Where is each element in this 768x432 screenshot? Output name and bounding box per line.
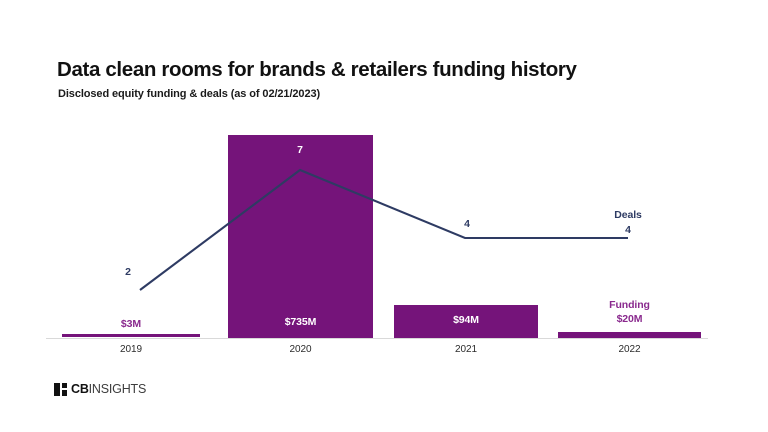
x-tick-2022: 2022: [558, 344, 701, 355]
x-tick-2020: 2020: [228, 344, 373, 355]
line-value-label-2020: 7: [288, 144, 312, 156]
line-value-label-2021: 4: [455, 218, 479, 230]
line-value-label-2022: 4: [616, 224, 640, 236]
legend-label-deals: Deals: [566, 209, 690, 221]
deals-line-path: [140, 170, 628, 290]
chart-plot-area: $3M $735M $94M $20M Funding 2 7 4 4 Deal…: [0, 0, 768, 432]
logo-wordmark: CBINSIGHTS: [71, 382, 146, 396]
logo-wordmark-cb: CB: [71, 382, 89, 396]
chart-slide: Data clean rooms for brands & retailers …: [0, 0, 768, 432]
x-tick-2019: 2019: [62, 344, 200, 355]
logo-wordmark-insights: INSIGHTS: [89, 382, 146, 396]
x-tick-2021: 2021: [394, 344, 538, 355]
cb-insights-square-icon: [54, 383, 67, 396]
cb-insights-logo: CBINSIGHTS: [54, 382, 146, 396]
line-value-label-2019: 2: [116, 266, 140, 278]
